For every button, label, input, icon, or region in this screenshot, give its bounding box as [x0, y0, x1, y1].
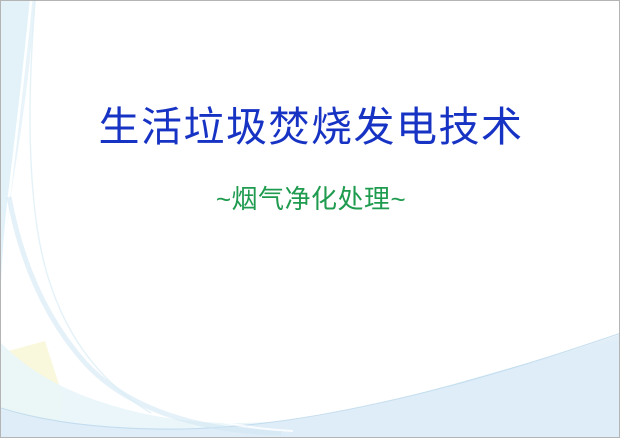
title-slide: 生活垃圾焚烧发电技术 ~烟气净化处理~	[0, 0, 620, 438]
title-placeholder: 生活垃圾焚烧发电技术	[1, 105, 620, 151]
subtitle-placeholder: ~烟气净化处理~	[1, 185, 620, 215]
page-title: 生活垃圾焚烧发电技术	[1, 105, 620, 151]
slide-text-layer: 生活垃圾焚烧发电技术 ~烟气净化处理~	[1, 1, 620, 438]
page-subtitle: ~烟气净化处理~	[1, 185, 620, 215]
